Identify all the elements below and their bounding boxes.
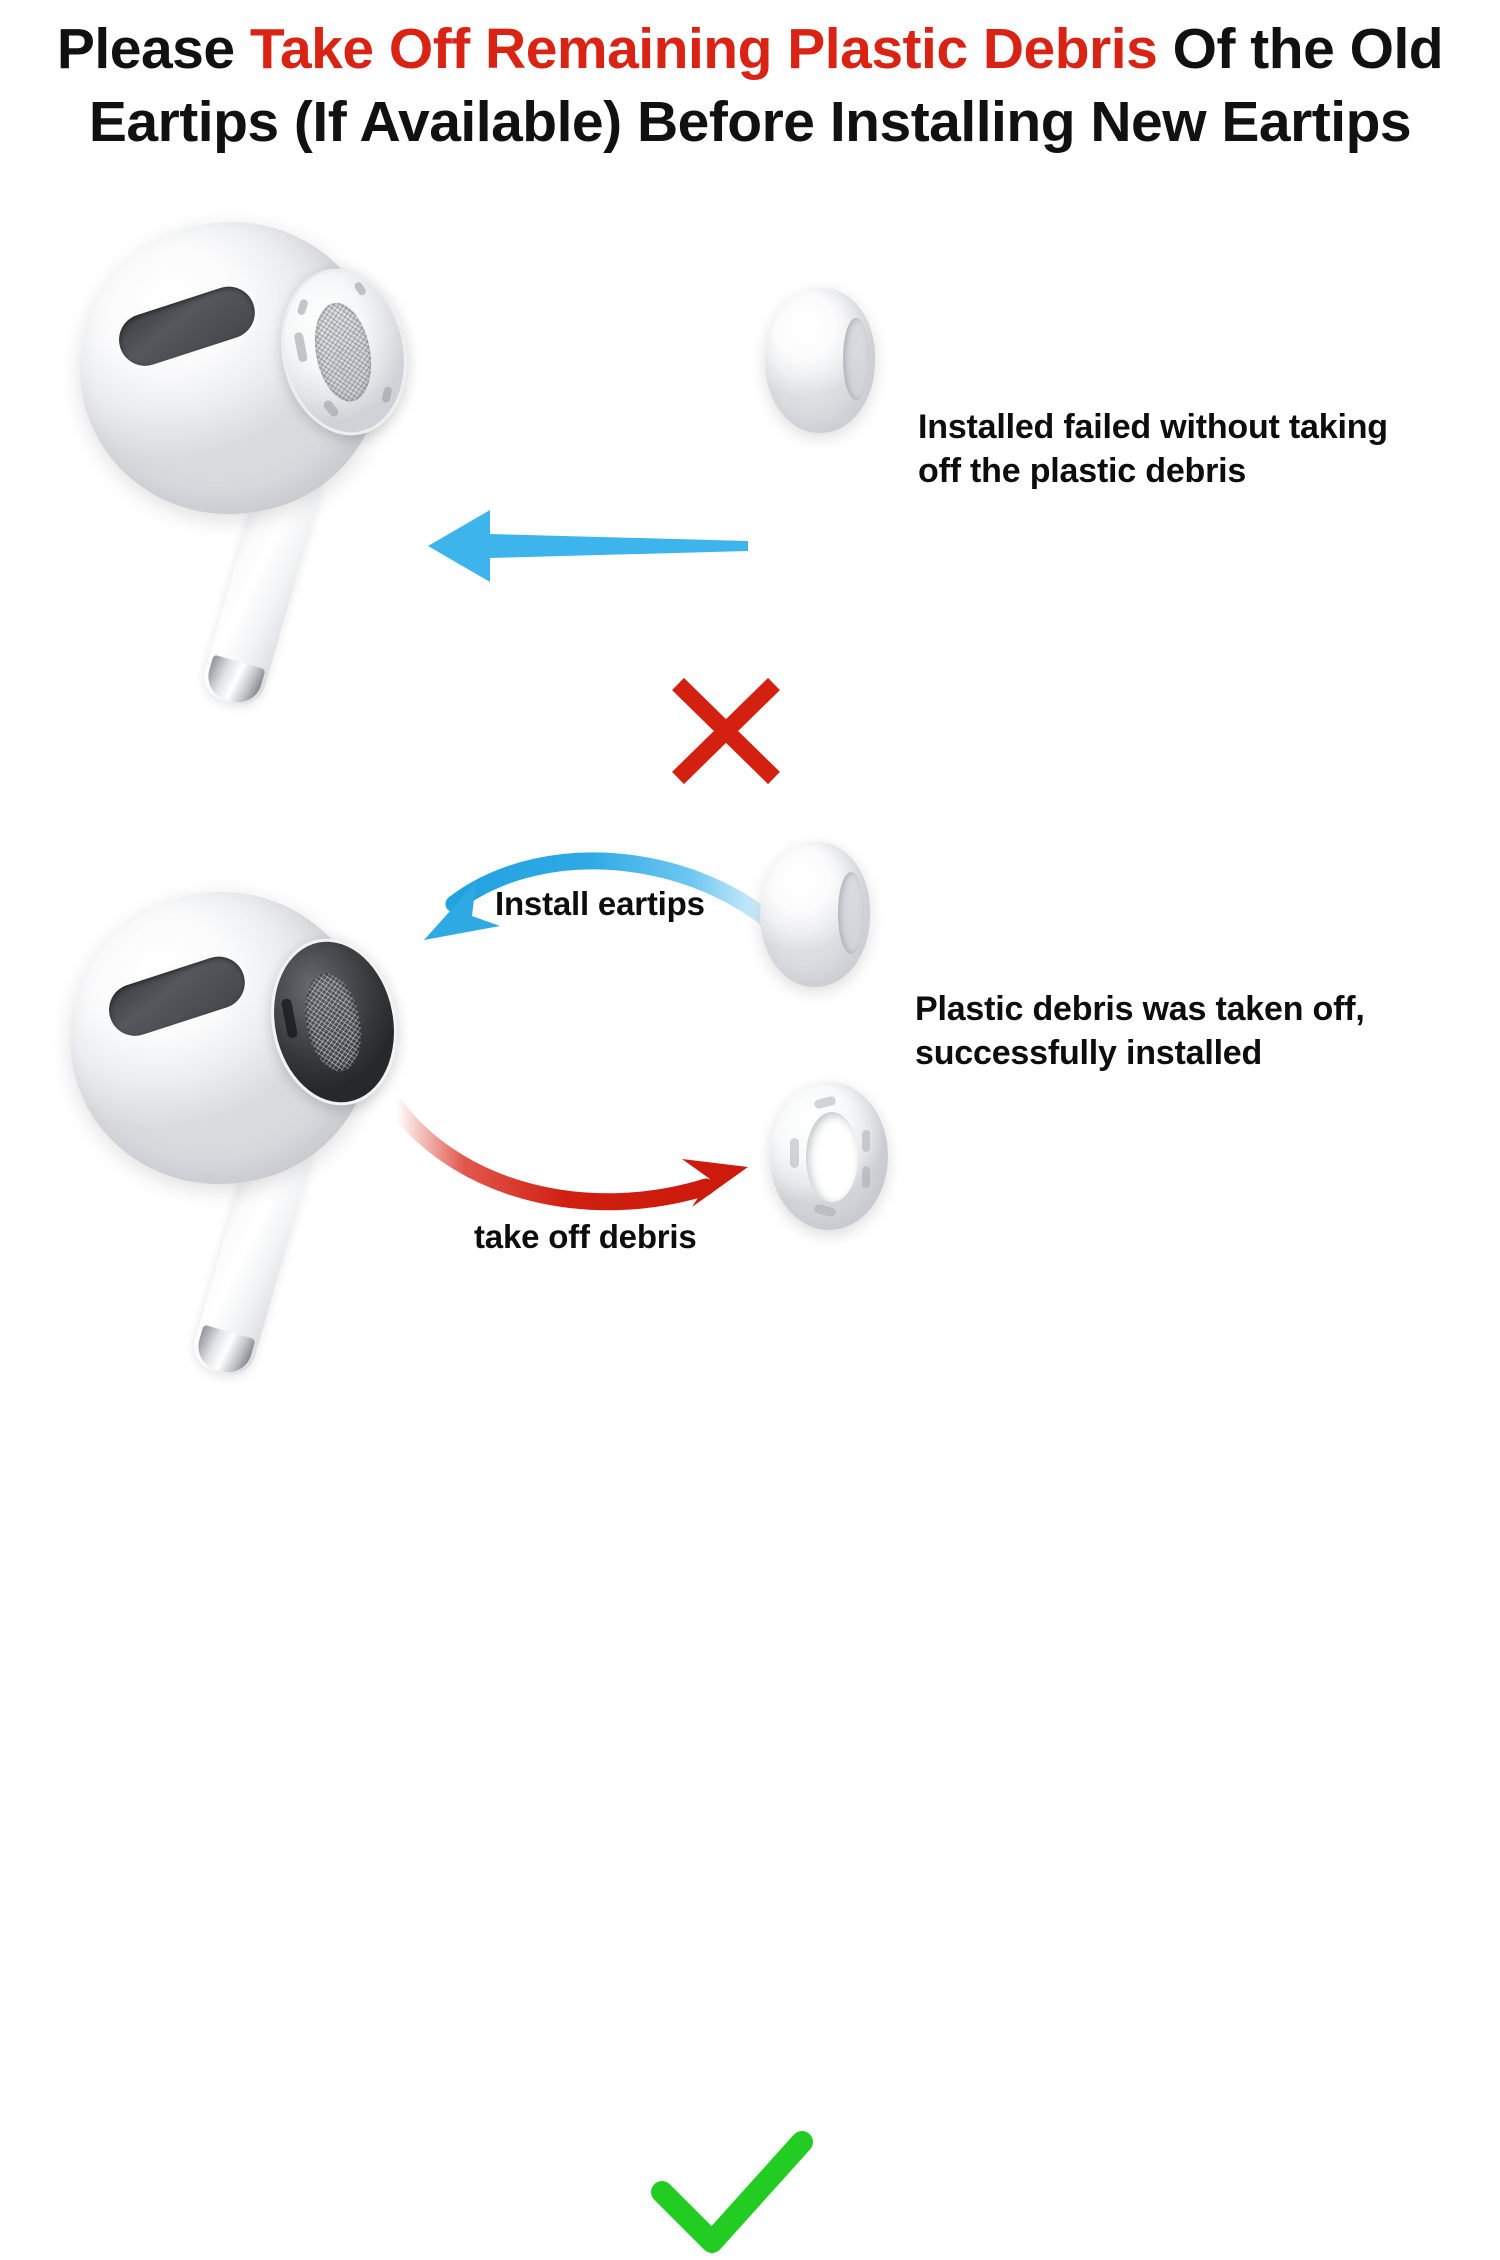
title-line-2: Eartips (If Available) Before Installing… [89, 86, 1411, 159]
airpod-stem-tip [193, 1325, 256, 1378]
eartip-bore [838, 872, 864, 954]
take-off-debris-arrow [380, 1095, 800, 1225]
debris-ring-slot [790, 1138, 799, 1168]
airpod-sensor-grille [102, 950, 251, 1043]
eartip-bore [843, 318, 869, 400]
plastic-debris-ring [770, 1082, 888, 1230]
take-off-debris-label: take off debris [474, 1218, 697, 1256]
title-text-pre: Please [57, 17, 250, 81]
caption-install-failed: Installed failed without taking off the … [918, 406, 1478, 493]
page-title: Please Take Off Remaining Plastic Debris… [0, 0, 1500, 172]
debris-ring-bore [806, 1112, 858, 1202]
section-install-success: Install eartips Plastic debris was taken… [0, 820, 1500, 1460]
airpod-sensor-grille [112, 280, 261, 373]
silicone-eartip [760, 842, 870, 987]
airpod-with-debris [70, 210, 470, 710]
caption-line-1: Installed failed without taking [918, 406, 1478, 450]
caption-line-2: off the plastic debris [918, 450, 1478, 494]
title-text-post: Of the Old [1157, 17, 1443, 81]
airpod-stem-tip [203, 655, 266, 708]
install-arrow-straight [428, 498, 748, 594]
caption-line-2: successfully installed [915, 1032, 1475, 1076]
debris-ring-slot [862, 1166, 870, 1188]
debris-ring-slot [862, 1130, 870, 1152]
section-install-failed: Installed failed without taking off the … [0, 180, 1500, 780]
caption-line-1: Plastic debris was taken off, [915, 988, 1475, 1032]
cross-mark-icon [668, 678, 780, 790]
check-mark-icon [640, 2120, 820, 2260]
silicone-eartip [765, 288, 875, 433]
title-line-1: Please Take Off Remaining Plastic Debris… [57, 13, 1443, 86]
install-eartips-label: Install eartips [495, 885, 705, 923]
caption-install-success: Plastic debris was taken off, successful… [915, 988, 1475, 1075]
title-text-highlight: Take Off Remaining Plastic Debris [250, 17, 1157, 81]
